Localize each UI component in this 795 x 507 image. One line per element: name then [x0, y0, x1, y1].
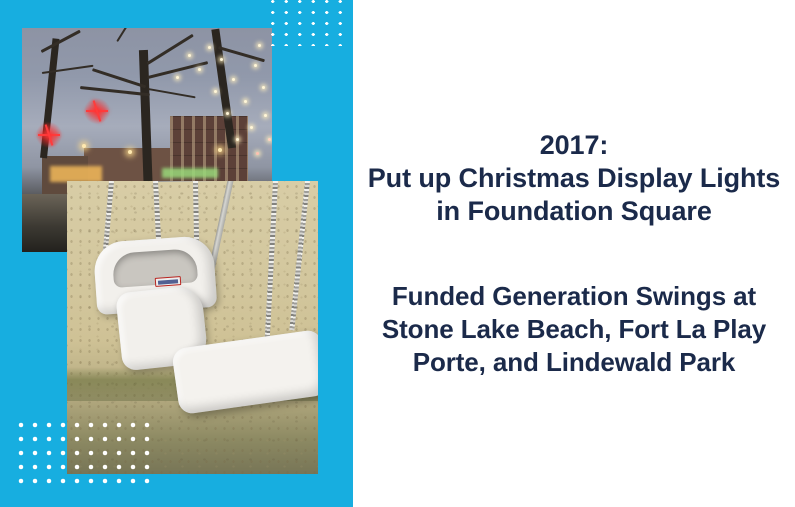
twinkle-light [176, 76, 179, 79]
twinkle-light [244, 100, 247, 103]
headline-line: 2017: [368, 129, 780, 162]
headline-line: Stone Lake Beach, Fort La Play [382, 313, 766, 346]
text-column: 2017: Put up Christmas Display Lights in… [362, 0, 786, 507]
twinkle-light [262, 86, 265, 89]
red-star-light [84, 98, 110, 124]
twinkle-light [232, 78, 235, 81]
twinkle-light [220, 58, 223, 61]
street-lamp [128, 150, 132, 154]
twinkle-light [226, 112, 229, 115]
twinkle-light [258, 44, 261, 47]
storefront-glow-green [162, 168, 218, 178]
twinkle-light [256, 152, 259, 155]
twinkle-light [214, 90, 217, 93]
twinkle-light [250, 126, 253, 129]
slide-canvas: 2017: Put up Christmas Display Lights in… [0, 0, 795, 507]
headline-line: in Foundation Square [368, 195, 780, 228]
twinkle-light [264, 114, 267, 117]
storefront-glow [50, 166, 102, 182]
street-lamp [218, 148, 222, 152]
headline-block-christmas-lights: 2017: Put up Christmas Display Lights in… [368, 129, 780, 228]
swing-brand-label [155, 276, 182, 287]
twinkle-light [268, 138, 271, 141]
headline-line: Porte, and Lindewald Park [382, 346, 766, 379]
headline-block-generation-swings: Funded Generation Swings at Stone Lake B… [382, 280, 766, 379]
photo-generation-swing [67, 181, 318, 474]
twinkle-light [254, 64, 257, 67]
twinkle-light [236, 138, 239, 141]
red-star-light [36, 122, 62, 148]
headline-line: Put up Christmas Display Lights [368, 162, 780, 195]
twinkle-light [188, 54, 191, 57]
street-lamp [82, 144, 86, 148]
twinkle-light [198, 68, 201, 71]
twinkle-light [208, 46, 211, 49]
headline-line: Funded Generation Swings at [382, 280, 766, 313]
